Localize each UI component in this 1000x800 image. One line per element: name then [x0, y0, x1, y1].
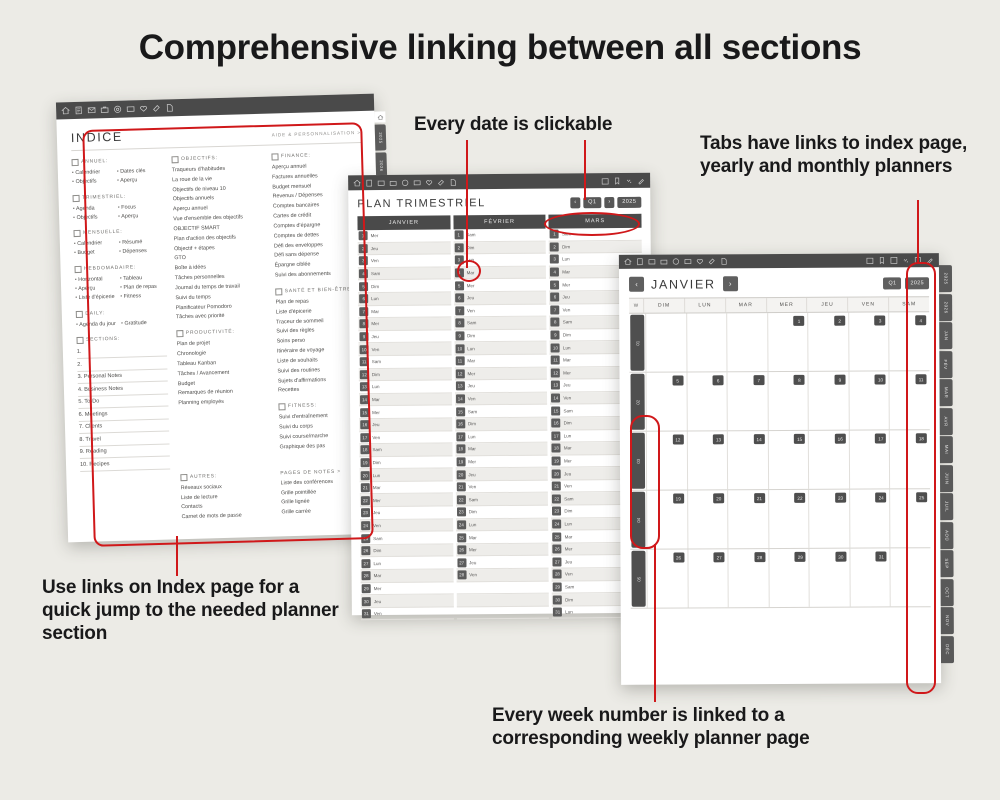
quarter-day-row[interactable]: 11Mar — [454, 355, 547, 368]
quarter-day-row[interactable]: 30Jeu — [361, 595, 454, 608]
side-tab[interactable]: OCT — [941, 579, 954, 606]
side-tab[interactable]: NOV — [941, 607, 954, 634]
day-number[interactable]: 20 — [713, 493, 724, 503]
day-number[interactable]: 27 — [361, 559, 370, 568]
home-tab-icon[interactable] — [374, 111, 385, 122]
prev-quarter-button[interactable]: ‹ — [570, 197, 580, 208]
fitness-icon[interactable] — [437, 178, 445, 186]
year-selector[interactable]: 2025 — [617, 196, 641, 207]
day-weekday: Sam — [371, 271, 380, 276]
quarter-day-row[interactable]: 7Ven — [454, 304, 547, 317]
day-number[interactable]: 9 — [834, 375, 845, 385]
side-tab-year[interactable]: 2025 — [375, 124, 387, 150]
folder-icon[interactable] — [126, 104, 135, 113]
annotation-week: Every week number is linked to a corresp… — [492, 704, 912, 750]
side-tab[interactable]: MAI — [940, 436, 953, 463]
quarter-day-row[interactable]: 22Sam — [456, 493, 549, 506]
week-number-label: 01 — [635, 340, 640, 345]
day-number[interactable]: 20 — [456, 470, 465, 479]
day-number[interactable]: 4 — [550, 268, 559, 277]
day-number[interactable]: 10 — [875, 374, 886, 384]
month-day-cell[interactable]: 23 — [808, 490, 849, 548]
month-day-cell[interactable]: 24 — [849, 489, 890, 547]
day-number[interactable]: 19 — [456, 457, 465, 466]
day-number[interactable]: 24 — [876, 492, 887, 502]
day-weekday: Lun — [372, 384, 380, 389]
month-day-cell[interactable]: 31 — [849, 548, 890, 606]
month-day-cell[interactable] — [726, 313, 767, 371]
month-day-cell[interactable]: 10 — [848, 371, 889, 429]
day-number[interactable]: 2 — [454, 243, 463, 252]
side-tab-label: OCT — [945, 587, 950, 598]
quarter-day-row[interactable]: 28Ven — [456, 569, 549, 582]
day-number[interactable]: 30 — [835, 552, 846, 562]
pen-icon[interactable] — [637, 176, 645, 184]
briefcase-icon[interactable] — [100, 105, 109, 114]
quarter-day-row[interactable]: 5Dim — [358, 280, 451, 293]
quarter-day-row[interactable]: 20Jeu — [455, 468, 548, 481]
day-number[interactable]: 8 — [794, 375, 805, 385]
quarter-selector[interactable]: Q1 — [883, 277, 901, 289]
day-number[interactable]: 28 — [754, 552, 765, 562]
day-number[interactable]: 5 — [550, 280, 559, 289]
day-weekday: Sam — [467, 321, 476, 326]
quarter-day-row[interactable]: 16Jeu — [359, 418, 452, 431]
quarter-day-row[interactable]: 23Jeu — [360, 506, 453, 519]
folder-icon[interactable] — [684, 257, 692, 265]
day-number[interactable]: 28 — [362, 571, 371, 580]
calendar-icon — [76, 311, 83, 318]
day-number[interactable]: 29 — [362, 584, 371, 593]
day-number[interactable]: 6 — [713, 375, 724, 385]
monthly-planner-page[interactable]: ‹ JANVIER › Q1 2025 WDIMLUNMARMERJEUVENS… — [619, 253, 941, 685]
link-icon[interactable] — [625, 176, 633, 184]
day-number[interactable]: 28 — [553, 570, 562, 579]
quarter-day-row[interactable]: 3Ven — [358, 255, 451, 268]
day-number[interactable]: 30 — [553, 595, 562, 604]
month-day-cell[interactable] — [645, 313, 686, 371]
day-weekday: Dim — [468, 421, 476, 426]
page-icon[interactable] — [165, 103, 174, 112]
day-number[interactable]: 18 — [456, 445, 465, 454]
day-weekday: Jeu — [563, 383, 570, 388]
quarter-day-row[interactable]: 17Lun — [455, 430, 548, 443]
day-weekday: Ven — [371, 259, 379, 264]
quarter-day-row[interactable]: 21Ven — [455, 480, 548, 493]
heart-icon[interactable] — [696, 257, 704, 265]
side-tab[interactable]: DÉC — [941, 636, 954, 663]
day-weekday: Mar — [563, 358, 571, 363]
month-day-cell[interactable]: 15 — [768, 431, 809, 489]
annotation-index: Use links on Index page for a quick jump… — [42, 576, 342, 646]
mail-icon[interactable] — [87, 105, 96, 114]
day-number[interactable]: 15 — [551, 406, 560, 415]
quarter-day-row[interactable]: 21Mar — [360, 481, 453, 494]
fitness-icon[interactable] — [152, 104, 161, 113]
quarter-day-row[interactable]: 26Dim — [360, 544, 453, 557]
callout-week-leader — [654, 544, 656, 702]
weekday-header-row: WDIMLUNMARMERJEUVENSAM — [629, 296, 929, 314]
quarter-day-row[interactable]: 10Lun — [454, 342, 547, 355]
day-weekday: Mer — [562, 282, 570, 287]
day-number[interactable]: 7 — [551, 305, 560, 314]
day-weekday: Lun — [371, 296, 379, 301]
day-number[interactable]: 3 — [550, 255, 559, 264]
day-number[interactable]: 30 — [362, 597, 371, 606]
side-tab[interactable]: FÉV — [939, 351, 952, 378]
day-number[interactable]: 31 — [553, 608, 562, 617]
callout-index-outline — [82, 122, 374, 547]
day-weekday: Ven — [564, 484, 572, 489]
folder-icon[interactable] — [413, 178, 421, 186]
day-weekday: Jeu — [564, 471, 571, 476]
quarter-day-row[interactable]: 10Ven — [359, 343, 452, 356]
quarter-day-row-empty — [456, 581, 549, 594]
month-day-cell[interactable]: 8 — [767, 372, 808, 430]
weekday-header: LUN — [684, 298, 725, 312]
day-number[interactable]: 23 — [835, 493, 846, 503]
day-number[interactable]: 12 — [672, 435, 683, 445]
month-side-tabs[interactable]: 20252026JANFÉVMARAVRMAIJUINJUILAOÛSEPOCT… — [939, 265, 954, 663]
calendar-icon — [73, 230, 80, 237]
day-weekday: Dim — [373, 460, 381, 465]
day-weekday: Dim — [371, 284, 379, 289]
day-weekday: Dim — [562, 244, 570, 249]
day-number[interactable]: 16 — [835, 434, 846, 444]
quarter-day-row[interactable]: 15Sam — [455, 405, 548, 418]
briefcase-icon[interactable] — [389, 178, 397, 186]
quarter-day-row[interactable]: 4Sam — [358, 267, 451, 280]
quarter-day-row[interactable]: 20Lun — [360, 469, 453, 482]
month-title: JANVIER — [651, 277, 716, 291]
month-day-cell[interactable]: 14 — [727, 431, 768, 489]
quarter-day-row[interactable]: 31Ven — [361, 607, 454, 620]
quarter-day-row[interactable]: 18Mar — [455, 443, 548, 456]
day-number[interactable]: 8 — [551, 318, 560, 327]
day-number[interactable]: 21 — [456, 482, 465, 491]
mail-icon[interactable] — [377, 179, 385, 187]
quarter-day-row[interactable]: 12Mer — [454, 367, 547, 380]
day-weekday: Sam — [373, 536, 382, 541]
side-tab[interactable]: AOÛ — [940, 522, 953, 549]
quarter-day-row[interactable]: 14Ven — [455, 392, 548, 405]
day-number[interactable]: 18 — [552, 444, 561, 453]
page-icon[interactable] — [720, 257, 728, 265]
month-day-cell[interactable]: 16 — [808, 431, 849, 489]
next-month-button[interactable]: › — [723, 276, 738, 291]
month-day-cell[interactable]: 30 — [809, 549, 850, 607]
day-number[interactable]: 27 — [457, 558, 466, 567]
day-number[interactable]: 31 — [362, 609, 371, 618]
quarter-day-row[interactable]: 24Lun — [456, 518, 549, 531]
day-number[interactable]: 19 — [552, 456, 561, 465]
day-number[interactable]: 26 — [457, 545, 466, 554]
side-tab-label: JUIN — [944, 472, 949, 484]
day-number[interactable]: 15 — [794, 434, 805, 444]
day-number[interactable]: 29 — [795, 552, 806, 562]
side-tab[interactable]: 2025 — [939, 265, 952, 292]
day-number[interactable]: 11 — [455, 357, 464, 366]
day-number[interactable]: 22 — [794, 493, 805, 503]
day-number[interactable]: 1 — [454, 231, 463, 240]
day-number[interactable]: 16 — [456, 420, 465, 429]
day-number[interactable]: 6 — [550, 293, 559, 302]
list-icon — [76, 337, 83, 344]
day-number[interactable]: 19 — [673, 494, 684, 504]
day-number[interactable]: 23 — [552, 507, 561, 516]
quarter-day-row[interactable]: 9Jeu — [358, 330, 451, 343]
quarter-day-row[interactable]: 1Mer — [358, 229, 451, 242]
calendar-icon — [72, 194, 79, 201]
month-day-cell[interactable]: 20 — [687, 490, 728, 548]
day-number[interactable] — [457, 596, 466, 605]
quarter-day-row[interactable]: 12Dim — [359, 368, 452, 381]
day-number[interactable]: 13 — [551, 381, 560, 390]
day-number[interactable]: 22 — [457, 495, 466, 504]
side-tab[interactable]: JUIL — [940, 493, 953, 520]
month-day-cell[interactable]: 27 — [687, 549, 728, 607]
day-number[interactable] — [458, 608, 467, 617]
quarter-day-row[interactable]: 22Mer — [360, 494, 453, 507]
day-weekday: Mer — [565, 547, 573, 552]
day-weekday: Dim — [563, 332, 571, 337]
day-number[interactable]: 7 — [753, 375, 764, 385]
day-number[interactable]: 9 — [551, 331, 560, 340]
day-number[interactable]: 24 — [552, 519, 561, 528]
day-weekday: Jeu — [469, 560, 476, 565]
day-number[interactable]: 23 — [457, 508, 466, 517]
day-weekday: Lun — [469, 522, 477, 527]
day-weekday: Lun — [565, 609, 573, 614]
calendar-icon[interactable] — [866, 257, 874, 265]
annotation-tabs: Tabs have links to index page, yearly an… — [700, 132, 972, 178]
month-day-cell[interactable]: 2 — [807, 313, 848, 371]
day-number[interactable]: 24 — [457, 520, 466, 529]
day-weekday: Lun — [564, 521, 572, 526]
month-day-cell[interactable]: 7 — [727, 372, 768, 430]
quarter-day-row[interactable]: 25Sam — [360, 532, 453, 545]
day-number[interactable]: 21 — [754, 493, 765, 503]
calendar-icon[interactable] — [601, 177, 609, 185]
day-number[interactable] — [457, 583, 466, 592]
day-weekday: Mar — [374, 573, 382, 578]
day-number[interactable]: 16 — [552, 419, 561, 428]
notebook-icon[interactable] — [365, 179, 373, 187]
side-tab[interactable]: AVR — [940, 408, 953, 435]
day-weekday: Jeu — [565, 559, 572, 564]
day-weekday: Dim — [469, 510, 477, 515]
quarter-day-row[interactable]: 16Dim — [455, 418, 548, 431]
day-number[interactable]: 14 — [456, 394, 465, 403]
day-weekday: Jeu — [467, 295, 474, 300]
day-number[interactable]: 7 — [455, 306, 464, 315]
side-tab[interactable]: JUIN — [940, 465, 953, 492]
day-number[interactable]: 25 — [553, 532, 562, 541]
side-tab-label: MAR — [944, 387, 949, 398]
day-number[interactable]: 25 — [457, 533, 466, 542]
quarter-month-header[interactable]: JANVIER — [357, 215, 450, 230]
quarter-day-row[interactable]: 11Sam — [359, 355, 452, 368]
quarter-day-row[interactable]: 7Mar — [358, 305, 451, 318]
day-weekday: Dim — [564, 421, 572, 426]
day-number[interactable]: 3 — [875, 315, 886, 325]
quarter-day-row[interactable]: 28Mar — [361, 569, 454, 582]
day-number[interactable]: 8 — [455, 319, 464, 328]
day-number[interactable]: 1 — [794, 316, 805, 326]
day-number[interactable]: 15 — [456, 407, 465, 416]
month-day-cell[interactable]: 22 — [768, 490, 809, 548]
month-day-cell[interactable]: 13 — [686, 431, 727, 489]
target-icon[interactable] — [672, 258, 680, 266]
day-number[interactable]: 20 — [552, 469, 561, 478]
day-number[interactable]: 31 — [876, 551, 887, 561]
fitness-icon[interactable] — [708, 257, 716, 265]
calendar-icon — [72, 159, 79, 166]
quarter-day-row[interactable]: 27Jeu — [456, 556, 549, 569]
month-day-cell[interactable]: 21 — [727, 490, 768, 548]
quarter-day-row[interactable]: 2Jeu — [358, 242, 451, 255]
quarter-day-row[interactable]: 6Jeu — [454, 292, 547, 305]
day-number[interactable]: 22 — [552, 494, 561, 503]
notebook-icon[interactable] — [636, 258, 644, 266]
heart-icon[interactable] — [425, 178, 433, 186]
month-day-cell[interactable]: 6 — [686, 372, 727, 430]
day-number[interactable]: 26 — [361, 546, 370, 555]
day-weekday: Jeu — [371, 334, 378, 339]
month-day-cell[interactable]: 28 — [728, 549, 769, 607]
quarter-day-row[interactable]: 24Ven — [360, 519, 453, 532]
quarter-day-row[interactable]: 6Lun — [358, 292, 451, 305]
day-number[interactable]: 26 — [553, 545, 562, 554]
day-number[interactable]: 11 — [551, 356, 560, 365]
index-side-tabs[interactable]: 2025 2026 — [374, 111, 387, 178]
day-number[interactable]: 12 — [455, 369, 464, 378]
quarter-day-row[interactable]: 9Dim — [454, 329, 547, 342]
day-number[interactable]: 13 — [456, 382, 465, 391]
day-number[interactable]: 26 — [673, 553, 684, 563]
day-number[interactable]: 9 — [455, 331, 464, 340]
day-weekday: Sam — [468, 409, 477, 414]
month-week-row: 011234 — [629, 312, 929, 373]
day-number[interactable]: 6 — [455, 294, 464, 303]
callout-week-outline — [630, 415, 660, 549]
day-number[interactable]: 13 — [713, 434, 724, 444]
bookmark-icon[interactable] — [878, 256, 886, 264]
day-number[interactable]: 17 — [456, 432, 465, 441]
quarter-day-row[interactable]: 26Mer — [456, 543, 549, 556]
day-number[interactable]: 29 — [553, 582, 562, 591]
side-tab[interactable]: JAN — [939, 322, 952, 349]
bookmark-icon[interactable] — [613, 176, 621, 184]
day-number[interactable]: 2 — [550, 242, 559, 251]
month-day-cell[interactable] — [686, 313, 727, 371]
day-number[interactable]: 17 — [875, 433, 886, 443]
page-title: Comprehensive linking between all sectio… — [0, 28, 1000, 68]
quarter-day-row[interactable]: 29Mer — [361, 582, 454, 595]
side-tab-label: FÉV — [943, 359, 948, 369]
week-number-link[interactable]: 01 — [630, 315, 644, 371]
quarter-day-row[interactable]: 14Mar — [359, 393, 452, 406]
quarter-day-row[interactable]: 27Lun — [360, 557, 453, 570]
day-weekday: Mar — [562, 269, 570, 274]
day-weekday: Jeu — [468, 472, 475, 477]
day-number[interactable]: 5 — [455, 281, 464, 290]
month-day-cell[interactable]: 9 — [808, 372, 849, 430]
page-icon[interactable] — [449, 178, 457, 186]
day-weekday: Mar — [469, 535, 477, 540]
day-number[interactable]: 14 — [551, 393, 560, 402]
day-weekday: Lun — [467, 346, 475, 351]
day-number[interactable]: 10 — [455, 344, 464, 353]
day-number[interactable]: 27 — [553, 557, 562, 566]
home-icon[interactable] — [61, 106, 70, 115]
next-quarter-button[interactable]: › — [604, 197, 614, 208]
day-number[interactable]: 2 — [834, 316, 845, 326]
link-icon[interactable] — [902, 256, 910, 264]
quarter-day-row[interactable]: 23Dim — [456, 506, 549, 519]
quarterly-planner-page[interactable]: PLAN TRIMESTRIEL ‹ Q1 › 2025 JANVIER1Mer… — [348, 173, 654, 616]
month-day-cell[interactable]: 1 — [767, 313, 808, 371]
quarter-day-row[interactable]: 8Sam — [454, 317, 547, 330]
mail-icon[interactable] — [648, 258, 656, 266]
day-number[interactable]: 28 — [457, 571, 466, 580]
month-day-cell[interactable]: 17 — [849, 430, 890, 488]
week-number-link[interactable]: 05 — [631, 551, 645, 607]
quarter-day-row[interactable]: 15Mer — [359, 406, 452, 419]
quarter-day-row[interactable]: 8Mer — [358, 318, 451, 331]
prev-month-button[interactable]: ‹ — [629, 277, 644, 292]
day-number[interactable]: 21 — [552, 482, 561, 491]
callout-tabs-outline — [906, 262, 936, 694]
weekday-header: JEU — [807, 298, 848, 312]
home-icon[interactable] — [624, 258, 632, 266]
day-number[interactable]: 5 — [672, 376, 683, 386]
day-number[interactable]: 17 — [552, 431, 561, 440]
heart-icon[interactable] — [139, 104, 148, 113]
day-weekday: Dim — [372, 372, 380, 377]
briefcase-icon[interactable] — [660, 258, 668, 266]
day-weekday: Sam — [372, 447, 381, 452]
day-weekday: Mer — [467, 371, 475, 376]
day-number[interactable]: 12 — [551, 368, 560, 377]
side-tab[interactable]: 2026 — [939, 294, 952, 321]
day-number[interactable]: 10 — [551, 343, 560, 352]
day-number[interactable]: 14 — [754, 434, 765, 444]
month-header: ‹ JANVIER › Q1 2025 — [629, 275, 929, 292]
quarter-day-row[interactable]: 13Lun — [359, 381, 452, 394]
month-day-cell[interactable]: 26 — [646, 549, 687, 607]
quarter-day-row[interactable]: 19Mer — [455, 455, 548, 468]
quarter-day-row[interactable]: 13Jeu — [455, 380, 548, 393]
side-tab[interactable]: SEP — [940, 550, 953, 577]
day-weekday: Ven — [467, 308, 475, 313]
month-day-cell[interactable]: 29 — [768, 549, 809, 607]
notebook-icon[interactable] — [74, 106, 83, 115]
target-icon[interactable] — [113, 105, 122, 114]
day-number[interactable]: 27 — [714, 552, 725, 562]
quarter-day-row[interactable]: 17Ven — [359, 431, 452, 444]
grid-icon[interactable] — [890, 256, 898, 264]
month-day-cell[interactable]: 3 — [848, 312, 889, 370]
quarter-day-row[interactable]: 19Dim — [360, 456, 453, 469]
side-tab[interactable]: MAR — [940, 379, 953, 406]
quarter-day-row[interactable]: 18Sam — [359, 444, 452, 457]
quarter-day-row[interactable]: 25Mar — [456, 531, 549, 544]
target-icon[interactable] — [401, 178, 409, 186]
quarter-nav[interactable]: ‹ Q1 › 2025 — [570, 196, 641, 208]
quarter-header: PLAN TRIMESTRIEL ‹ Q1 › 2025 — [357, 196, 641, 210]
quarter-day-row[interactable]: 2Dim — [549, 240, 642, 253]
